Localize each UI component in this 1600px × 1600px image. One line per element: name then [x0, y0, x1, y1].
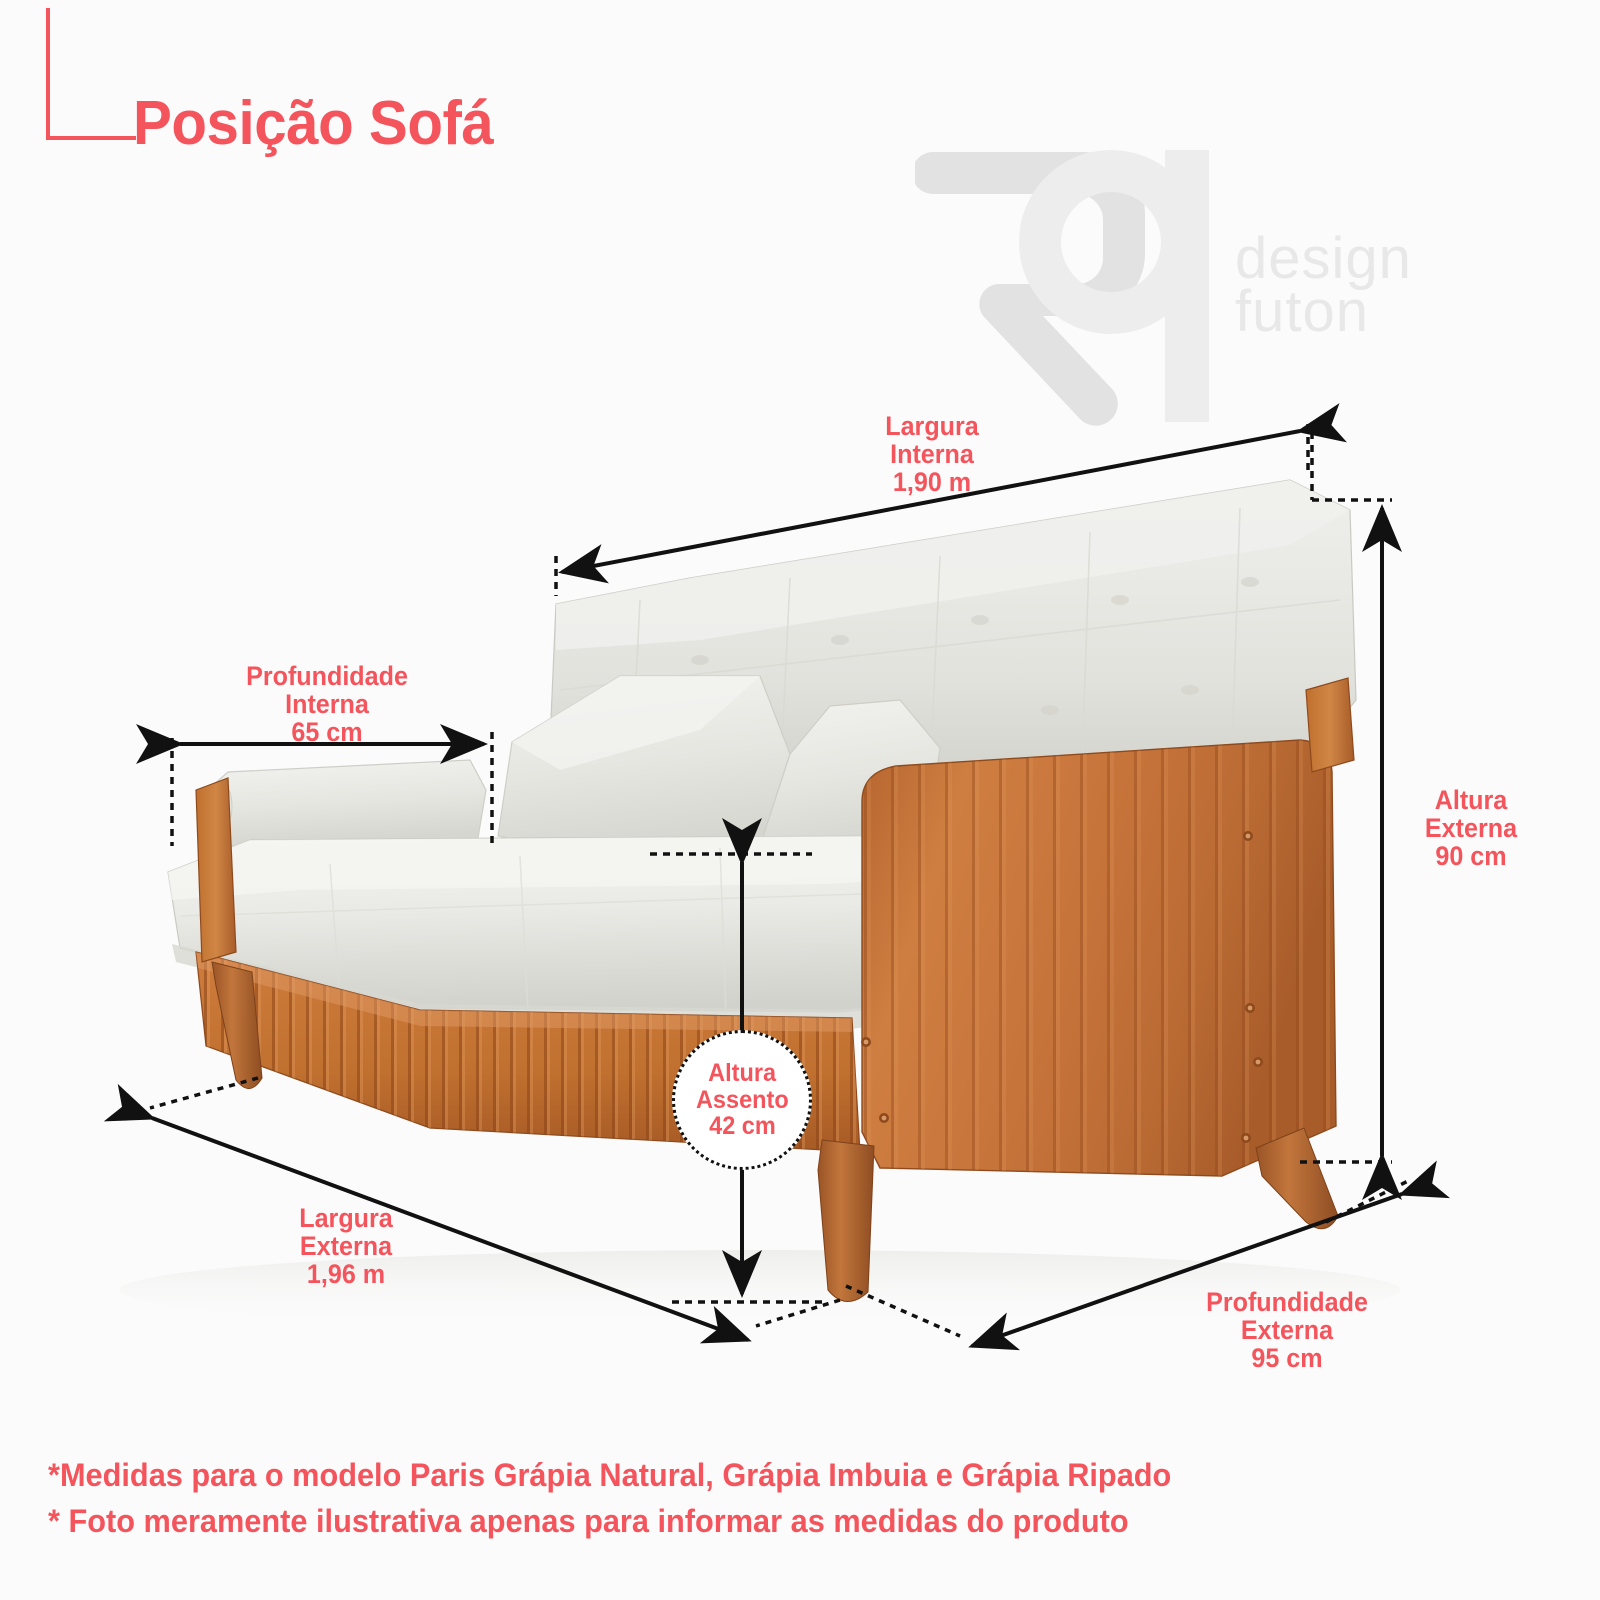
altura-assento-line1: Altura	[708, 1060, 776, 1087]
dimension-line-profundidade-interna	[172, 732, 492, 846]
largura-externa-line1: Largura	[262, 1204, 429, 1232]
infographic-canvas: Posição Sofá design futon	[0, 0, 1600, 1600]
altura-externa-value: 90 cm	[1392, 842, 1550, 870]
altura-externa-line2: Externa	[1392, 814, 1550, 842]
altura-assento-line2: Assento	[696, 1087, 789, 1114]
dimension-label-altura-externa: Altura Externa 90 cm	[1392, 786, 1550, 870]
dimension-label-largura-externa: Largura Externa 1,96 m	[262, 1204, 429, 1288]
profundidade-externa-line1: Profundidade	[1180, 1288, 1394, 1316]
largura-interna-value: 1,90 m	[839, 468, 1025, 496]
profundidade-interna-value: 65 cm	[220, 718, 434, 746]
largura-interna-line2: Interna	[839, 440, 1025, 468]
dimension-badge-altura-assento: Altura Assento 42 cm	[672, 1030, 812, 1170]
dimension-label-largura-interna: Largura Interna 1,90 m	[839, 412, 1025, 496]
dimension-line-altura-externa	[1300, 432, 1392, 1162]
altura-assento-value: 42 cm	[709, 1113, 776, 1140]
largura-externa-value: 1,96 m	[262, 1260, 429, 1288]
profundidade-interna-line1: Profundidade	[220, 662, 434, 690]
largura-interna-line1: Largura	[839, 412, 1025, 440]
dimension-label-profundidade-interna: Profundidade Interna 65 cm	[220, 662, 434, 746]
profundidade-externa-line2: Externa	[1180, 1316, 1394, 1344]
altura-externa-line1: Altura	[1392, 786, 1550, 814]
largura-externa-line2: Externa	[262, 1232, 429, 1260]
footer-line-illustrative: * Foto meramente ilustrativa apenas para…	[48, 1498, 1498, 1544]
footer-disclaimers: *Medidas para o modelo Paris Grápia Natu…	[48, 1452, 1498, 1545]
footer-line-models: *Medidas para o modelo Paris Grápia Natu…	[48, 1452, 1498, 1498]
profundidade-externa-value: 95 cm	[1180, 1344, 1394, 1372]
dimension-label-profundidade-externa: Profundidade Externa 95 cm	[1180, 1288, 1394, 1372]
profundidade-interna-line2: Interna	[220, 690, 434, 718]
